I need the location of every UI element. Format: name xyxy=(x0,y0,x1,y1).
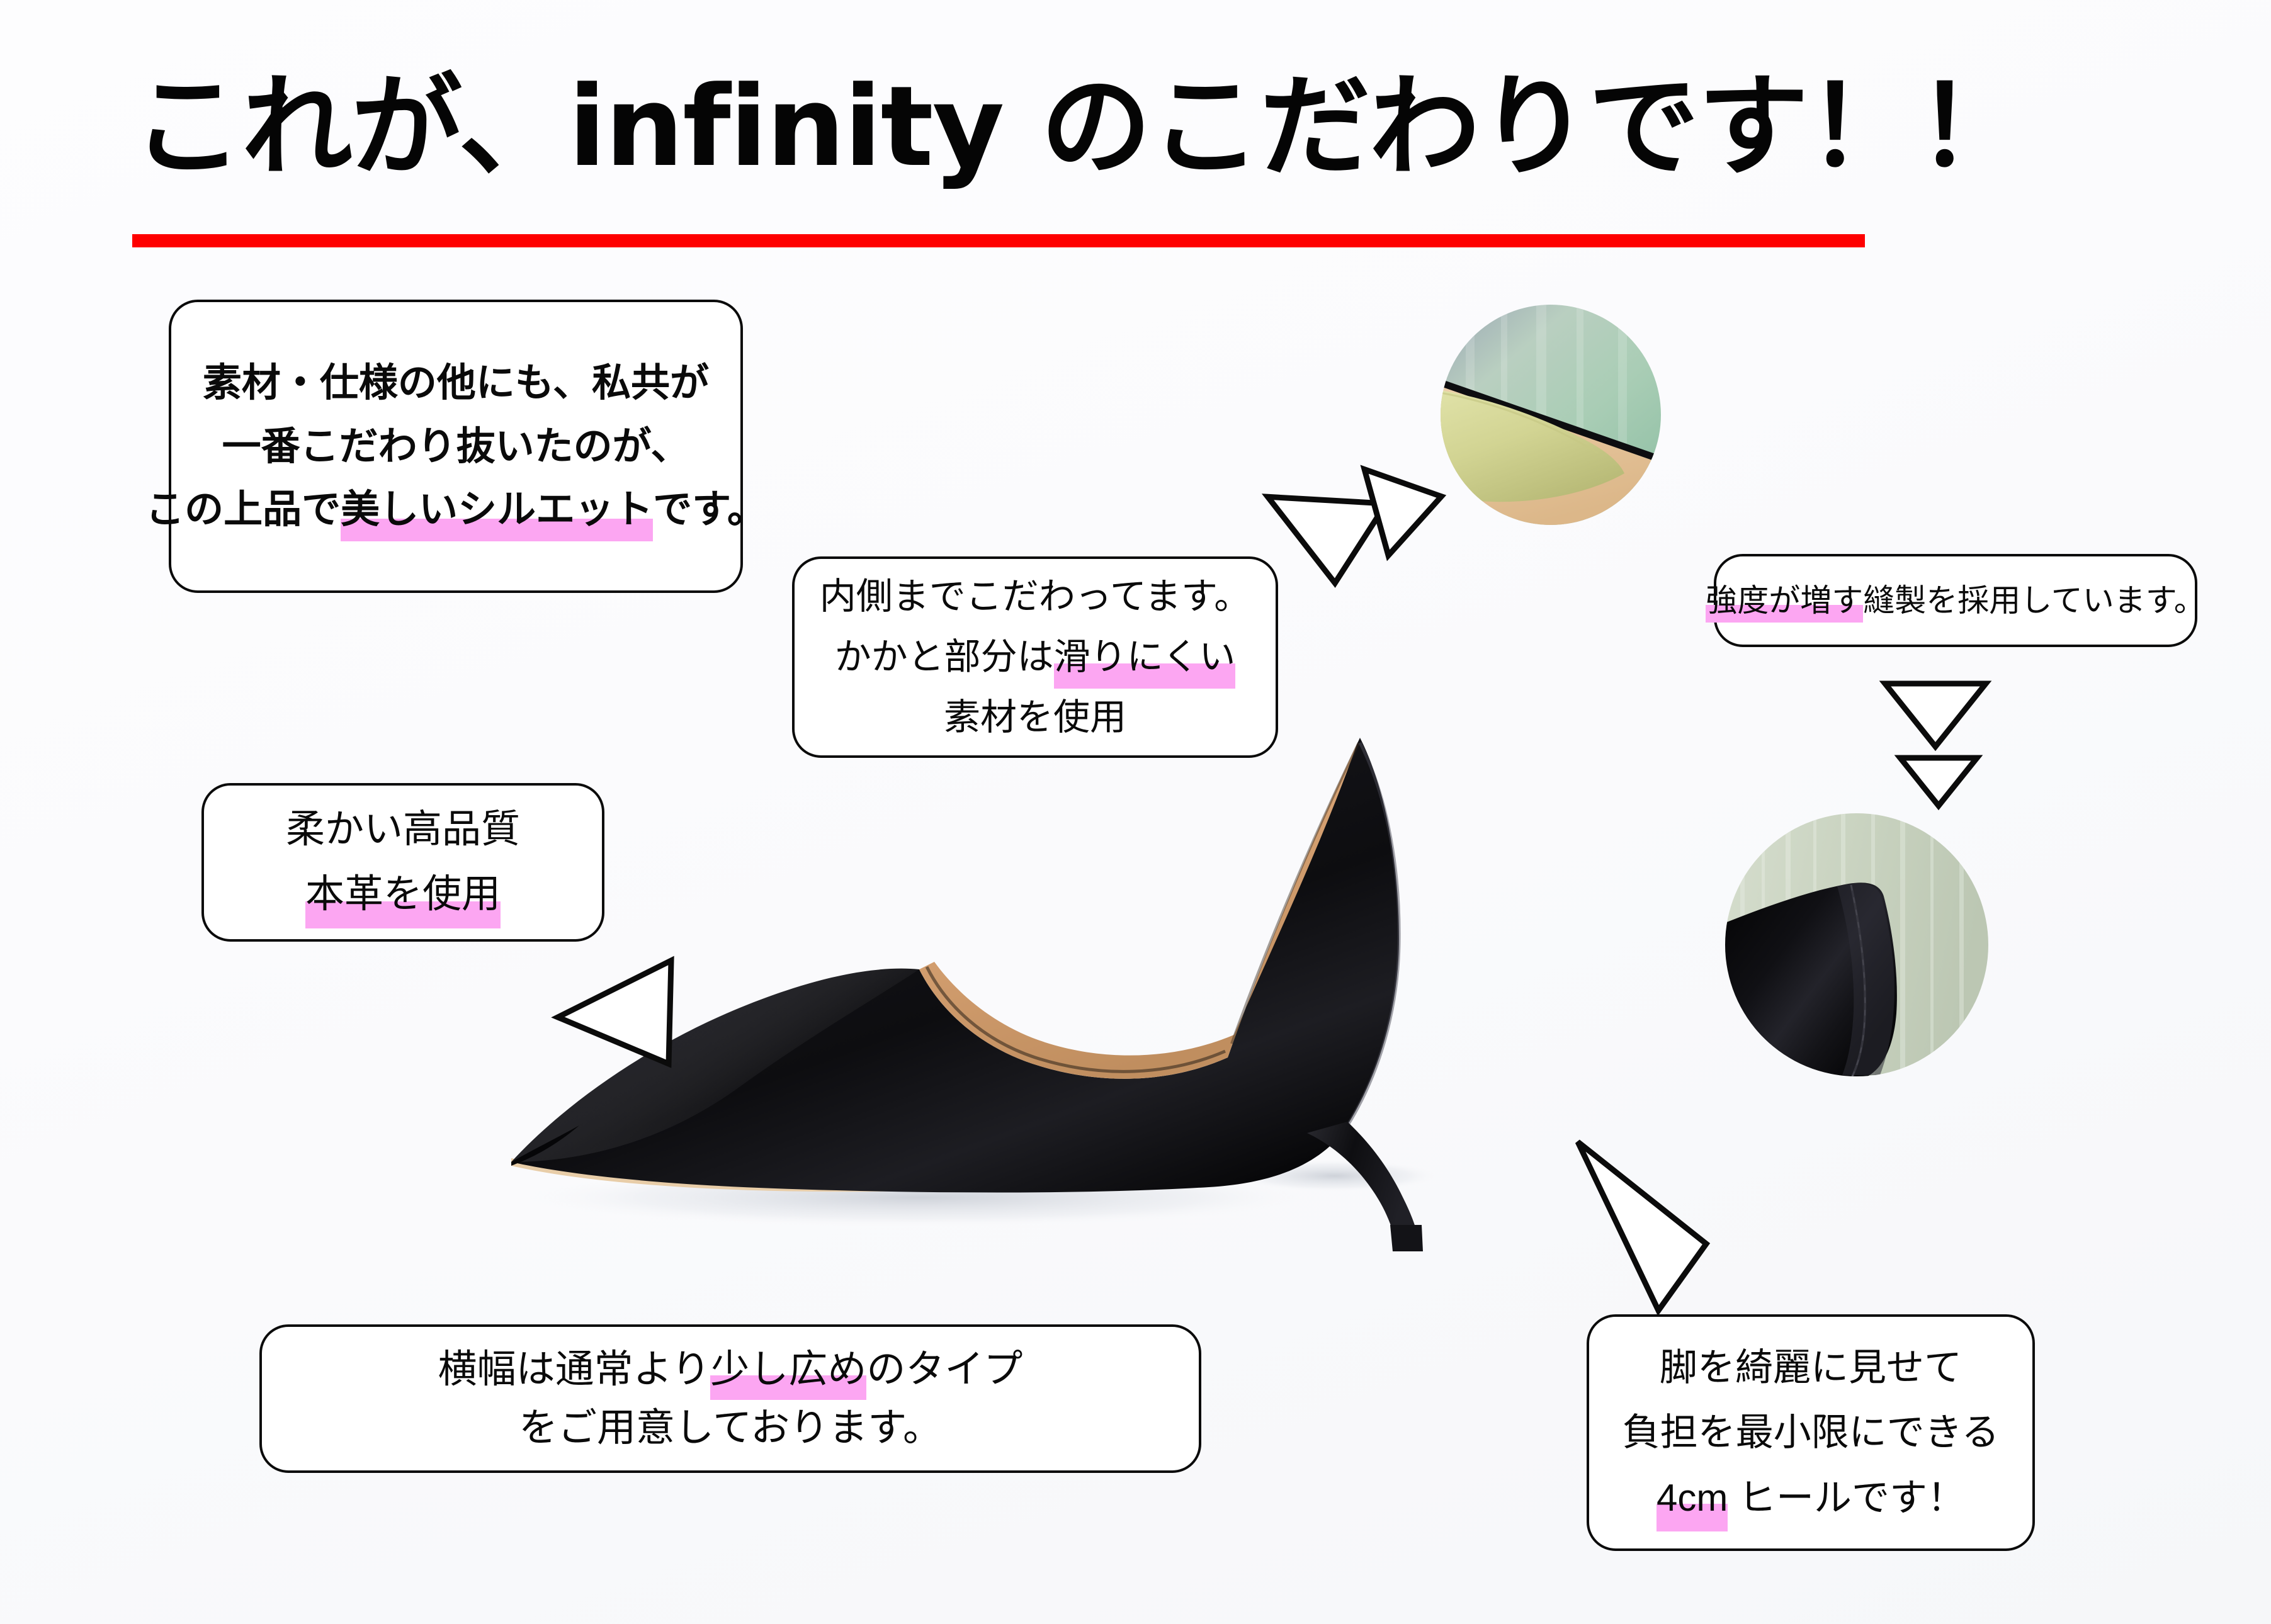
callout-heel-line-3-post: ヒールです！ xyxy=(1728,1477,1965,1519)
callout-width-line-1-post: のタイプ xyxy=(866,1348,1022,1391)
callout-inner-highlight: 滑りにくい xyxy=(1054,627,1236,687)
callout-width-line-1-pre: 横幅は通常より xyxy=(438,1348,711,1391)
callout-stitch-line-1: 強度が増す縫製を採用しています。 xyxy=(1706,580,2206,621)
callout-silhouette-line-3-pre: この上品で xyxy=(145,486,341,532)
triangle-down-icon xyxy=(1896,753,1981,811)
callout-heel-height: 脚を綺麗に見せて 負担を最小限にできる 4cm ヒールです！ xyxy=(1587,1314,2035,1551)
callout-inner-line-1: 内側までこだわってます。 xyxy=(820,567,1250,627)
triangle-left-icon xyxy=(554,956,680,1069)
callout-leather-highlight: 本革を使用 xyxy=(305,862,501,927)
triangle-down-icon xyxy=(1881,679,1990,752)
callout-inner-line-2: かかと部分は滑りにくい xyxy=(835,627,1236,687)
callout-width-line-1: 横幅は通常より少し広めのタイプ xyxy=(438,1340,1023,1399)
callout-heel-highlight: 4cm xyxy=(1657,1465,1728,1530)
callout-silhouette-highlight: 美しいシルエット xyxy=(341,478,653,541)
callout-stitch-highlight: 強度が増す xyxy=(1706,580,1863,621)
callout-heel-line-1: 脚を綺麗に見せて xyxy=(1660,1335,1962,1400)
triangle-down-icon xyxy=(1352,463,1449,566)
callout-leather-line-1: 柔かい高品質 xyxy=(286,798,520,862)
page-title: これが、infinity のこだわりです！！ xyxy=(132,69,1958,186)
callout-heel-line-2: 負担を最小限にできる xyxy=(1623,1400,2000,1465)
callout-silhouette: 素材・仕様の他にも、私共が 一番こだわり抜いたのが、 この上品で美しいシルエット… xyxy=(169,300,743,593)
page-header: これが、infinity のこだわりです！！ xyxy=(132,69,1958,186)
title-underline-rule xyxy=(132,234,1865,247)
callout-silhouette-line-2: 一番こだわり抜いたのが、 xyxy=(222,415,690,478)
callout-leather: 柔かい高品質 本革を使用 xyxy=(201,783,604,942)
callout-inner-line-2-pre: かかと部分は xyxy=(835,636,1054,677)
callout-width-line-2: をご用意しております。 xyxy=(519,1399,942,1457)
triangle-down-left-icon xyxy=(1570,1133,1715,1316)
callout-width-highlight: 少し広め xyxy=(710,1340,866,1399)
callout-silhouette-line-1: 素材・仕様の他にも、私共が xyxy=(203,351,709,414)
callout-stitching: 強度が増す縫製を採用しています。 xyxy=(1714,554,2197,647)
callout-heel-line-3: 4cm ヒールです！ xyxy=(1657,1465,1965,1530)
detail-photo-inner-lining xyxy=(1441,305,1661,525)
callout-silhouette-line-3-post: です。 xyxy=(653,486,766,532)
callout-leather-line-2: 本革を使用 xyxy=(305,862,501,927)
detail-photo-heel-seam xyxy=(1725,813,1988,1076)
callout-inner-lining: 内側までこだわってます。 かかと部分は滑りにくい 素材を使用 xyxy=(792,556,1278,758)
callout-silhouette-line-3: この上品で美しいシルエットです。 xyxy=(145,478,766,541)
callout-stitch-line-1-post: 縫製を採用しています。 xyxy=(1863,583,2206,618)
callout-width: 横幅は通常より少し広めのタイプ をご用意しております。 xyxy=(259,1324,1201,1473)
callout-inner-line-3: 素材を使用 xyxy=(944,687,1126,748)
